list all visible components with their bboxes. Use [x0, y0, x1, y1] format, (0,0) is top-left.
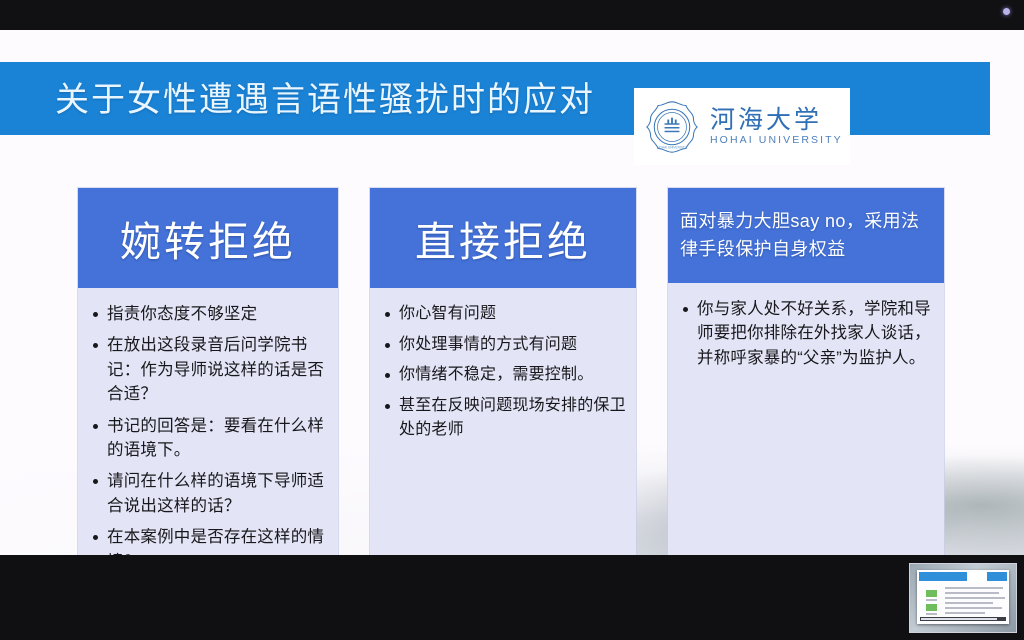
card-1-bullet-list: 指责你态度不够坚定 在放出这段录音后问学院书记：作为导师说这样的话是否合适？ 书…	[90, 302, 328, 555]
card-2-header: 直接拒绝	[370, 188, 636, 288]
card-3-header: 面对暴力大胆say no，采用法律手段保护自身权益	[668, 188, 944, 283]
logo-name-cn: 河海大学	[710, 107, 843, 132]
pip-slide-content	[917, 570, 1009, 624]
card-1-header: 婉转拒绝	[78, 188, 338, 288]
video-player-screen: 河海大 关于女性遭遇言语性骚扰时的应对	[0, 0, 1024, 640]
list-item: 甚至在反映问题现场安排的保卫处的老师	[382, 394, 626, 441]
content-card-1: 婉转拒绝 指责你态度不够坚定 在放出这段录音后问学院书记：作为导师说这样的话是否…	[78, 188, 338, 555]
list-item: 你心智有问题	[382, 302, 626, 326]
list-item: 你处理事情的方式有问题	[382, 333, 626, 357]
picture-in-picture-preview[interactable]	[909, 563, 1017, 633]
list-item: 书记的回答是：要看在什么样的语境下。	[90, 414, 328, 463]
letterbox-bottom	[0, 555, 1024, 640]
svg-text:HOHAI UNIVERSITY: HOHAI UNIVERSITY	[657, 145, 688, 149]
list-item: 你与家人处不好关系，学院和导师要把你排除在外找家人谈话，并称呼家暴的“父亲”为监…	[680, 297, 934, 370]
card-2-title: 直接拒绝	[415, 208, 591, 268]
pip-logo-plate	[967, 572, 987, 581]
presentation-slide: 河海大 关于女性遭遇言语性骚扰时的应对	[0, 30, 1024, 555]
content-card-3: 面对暴力大胆say no，采用法律手段保护自身权益 你与家人处不好关系，学院和导…	[668, 188, 944, 555]
hohai-seal-icon: HOHAI UNIVERSITY	[644, 99, 700, 155]
card-2-bullet-list: 你心智有问题 你处理事情的方式有问题 你情绪不稳定，需要控制。 甚至在反映问题现…	[382, 302, 626, 441]
card-2-body: 你心智有问题 你处理事情的方式有问题 你情绪不稳定，需要控制。 甚至在反映问题现…	[370, 288, 636, 448]
logo-wordmark: 河海大学 HOHAI UNIVERSITY	[710, 107, 843, 146]
list-item: 请问在什么样的语境下导师适合说出这样的话？	[90, 469, 328, 518]
university-logo: HOHAI UNIVERSITY 河海大学 HOHAI UNIVERSITY	[634, 88, 850, 165]
list-item: 在本案例中是否存在这样的情境？	[90, 525, 328, 555]
list-item: 指责你态度不够坚定	[90, 302, 328, 326]
logo-name-en: HOHAI UNIVERSITY	[710, 134, 843, 146]
list-item: 你情绪不稳定，需要控制。	[382, 363, 626, 387]
page-title: 关于女性遭遇言语性骚扰时的应对	[55, 76, 615, 124]
letterbox-top	[0, 0, 1024, 30]
pip-progress-bar	[920, 617, 1006, 621]
content-card-2: 直接拒绝 你心智有问题 你处理事情的方式有问题 你情绪不稳定，需要控制。 甚至在…	[370, 188, 636, 555]
list-item: 在放出这段录音后问学院书记：作为导师说这样的话是否合适？	[90, 333, 328, 406]
card-3-title: 面对暴力大胆say no，采用法律手段保护自身权益	[680, 208, 932, 264]
recording-indicator-icon	[1003, 8, 1010, 15]
card-3-body: 你与家人处不好关系，学院和导师要把你排除在外找家人谈话，并称呼家暴的“父亲”为监…	[668, 283, 944, 377]
card-3-bullet-list: 你与家人处不好关系，学院和导师要把你排除在外找家人谈话，并称呼家暴的“父亲”为监…	[680, 297, 934, 370]
card-1-body: 指责你态度不够坚定 在放出这段录音后问学院书记：作为导师说这样的话是否合适？ 书…	[78, 288, 338, 555]
card-1-title: 婉转拒绝	[120, 208, 296, 268]
pip-title-band	[919, 572, 1007, 581]
